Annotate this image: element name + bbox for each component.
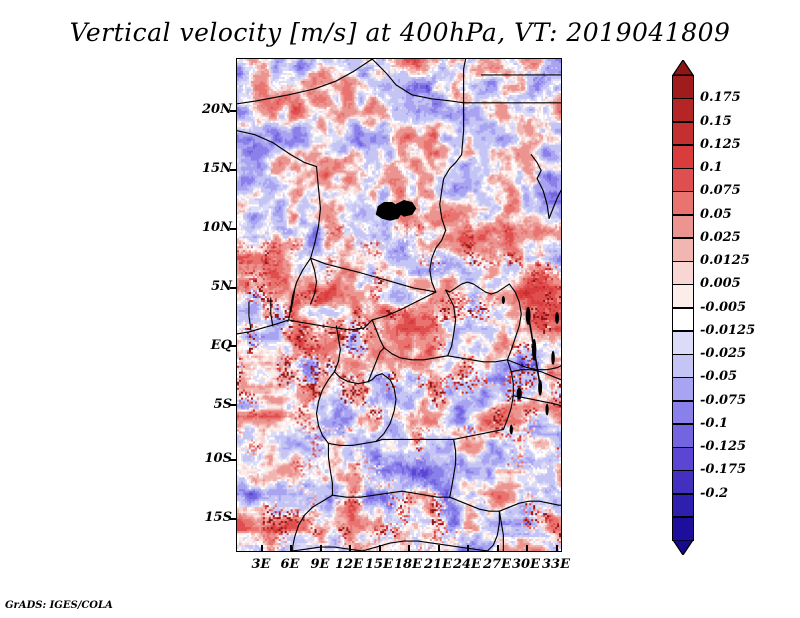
colorbar-band (672, 168, 694, 192)
colorbar-tick-label: 0.05 (700, 208, 732, 221)
colorbar-band (672, 308, 694, 332)
colorbar-tick-label: -0.2 (700, 487, 728, 500)
colorbar-tick-label: -0.005 (700, 301, 746, 314)
colorbar-band (672, 191, 694, 215)
colorbar-tick-label: -0.1 (700, 417, 728, 430)
colorbar-tick-label: 0.025 (700, 231, 741, 244)
ylabel-15N: 15N (190, 162, 232, 175)
colorbar-extend-low-arrow (672, 540, 694, 555)
colorbar-band (672, 424, 694, 448)
colorbar-band (672, 261, 694, 285)
colorbar-tick-label: -0.125 (700, 440, 746, 453)
colorbar-band (672, 215, 694, 239)
colorbar-band (672, 284, 694, 308)
colorbar-tick-label: 0.0125 (700, 254, 750, 267)
colorbar-tick-label: 0.075 (700, 184, 741, 197)
colorbar-tick-label: -0.05 (700, 370, 737, 383)
ylabel-10S: 10S (190, 452, 232, 465)
ylabel-EQ: EQ (190, 339, 232, 352)
colorbar-band (672, 517, 694, 541)
colorbar: 0.1750.150.1250.10.0750.050.0250.01250.0… (672, 60, 696, 555)
ylabel-5S: 5S (190, 398, 232, 411)
colorbar-band (672, 447, 694, 471)
colorbar-tick-label: 0.175 (700, 91, 741, 104)
ylabel-10N: 10N (190, 221, 232, 234)
ylabel-5N: 5N (190, 280, 232, 293)
colorbar-tick-label: -0.025 (700, 347, 746, 360)
xlabel-33E: 33E (536, 558, 576, 571)
colorbar-tick-label: 0.005 (700, 277, 741, 290)
colorbar-band (672, 238, 694, 262)
colorbar-band (672, 377, 694, 401)
ylabel-20N: 20N (190, 103, 232, 116)
colorbar-tick-label: -0.175 (700, 463, 746, 476)
map-plot-area (236, 58, 562, 552)
colorbar-band (672, 401, 694, 425)
grads-credit: GrADS: IGES/COLA (5, 600, 113, 611)
colorbar-band (672, 354, 694, 378)
country-borders-overlay (237, 59, 561, 551)
colorbar-band (672, 75, 694, 99)
colorbar-tick-label: 0.1 (700, 161, 723, 174)
colorbar-band (672, 98, 694, 122)
colorbar-band (672, 145, 694, 169)
colorbar-extend-high-arrow (672, 60, 694, 75)
ylabel-15S: 15S (190, 511, 232, 524)
colorbar-band (672, 122, 694, 146)
colorbar-band (672, 470, 694, 494)
colorbar-band (672, 331, 694, 355)
colorbar-band (672, 494, 694, 518)
colorbar-tick-label: 0.15 (700, 115, 732, 128)
colorbar-tick-label: -0.0125 (700, 324, 755, 337)
colorbar-tick-label: -0.075 (700, 394, 746, 407)
page-title: Vertical velocity [m/s] at 400hPa, VT: 2… (0, 18, 800, 47)
colorbar-tick-label: 0.125 (700, 138, 741, 151)
